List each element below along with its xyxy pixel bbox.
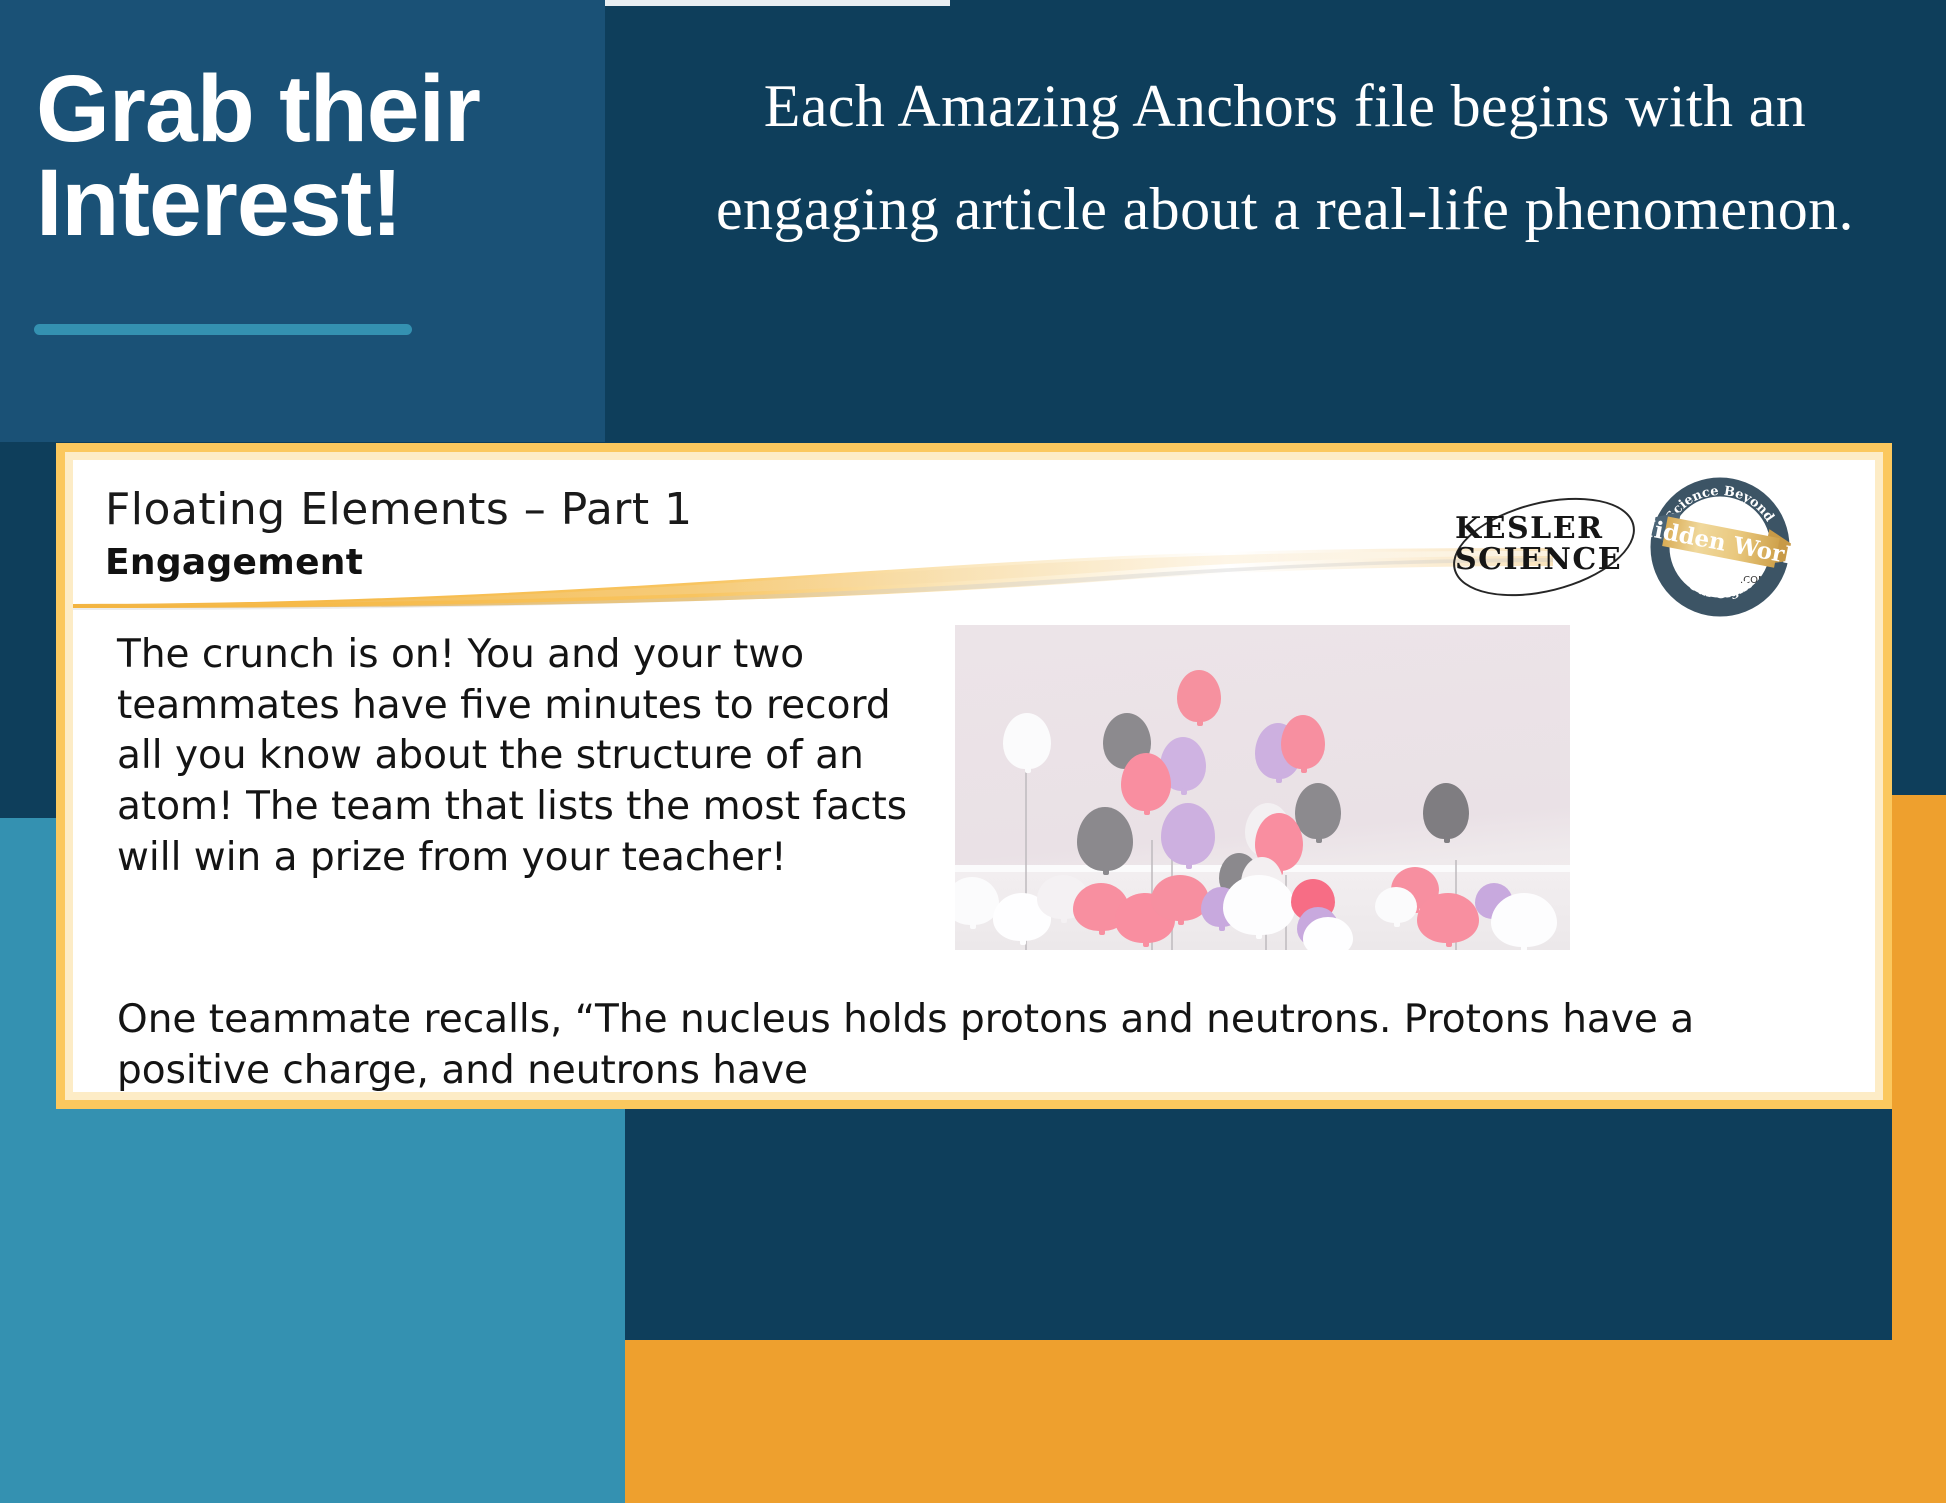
intro-paragraph: Each Amazing Anchors file begins with an… bbox=[660, 55, 1910, 261]
gold-swoosh-divider bbox=[73, 548, 1553, 608]
document-paragraph-2: One teammate recalls, “The nucleus holds… bbox=[117, 995, 1817, 1092]
right-edge-orange-block bbox=[1892, 795, 1946, 1503]
brand-logo-group: KESLER SCIENCE .COM bbox=[1455, 474, 1855, 614]
document-card-inner-border: Floating Elements – Part 1 Engagement bbox=[65, 452, 1883, 1100]
slide-canvas: Grab their Interest! Each Amazing Anchor… bbox=[0, 0, 1946, 1503]
headline-underline bbox=[34, 324, 412, 335]
bottom-right-orange-block bbox=[625, 1340, 1946, 1503]
document-preview-card[interactable]: Floating Elements – Part 1 Engagement bbox=[56, 443, 1892, 1109]
document-title: Floating Elements – Part 1 bbox=[105, 484, 693, 535]
balloons-photo bbox=[955, 625, 1570, 950]
document-page: Floating Elements – Part 1 Engagement bbox=[73, 460, 1875, 1092]
logo-line-1: KESLER bbox=[1455, 514, 1622, 545]
page-title: Grab their Interest! bbox=[36, 62, 596, 250]
logo-line-2: SCIENCE bbox=[1455, 545, 1622, 576]
document-paragraph-1: The crunch is on! You and your two teamm… bbox=[117, 630, 917, 883]
hidden-world-badge-icon: Science Beyond Our Sight Hidden World bbox=[1645, 472, 1795, 622]
kesler-science-logo: KESLER SCIENCE bbox=[1455, 514, 1622, 575]
